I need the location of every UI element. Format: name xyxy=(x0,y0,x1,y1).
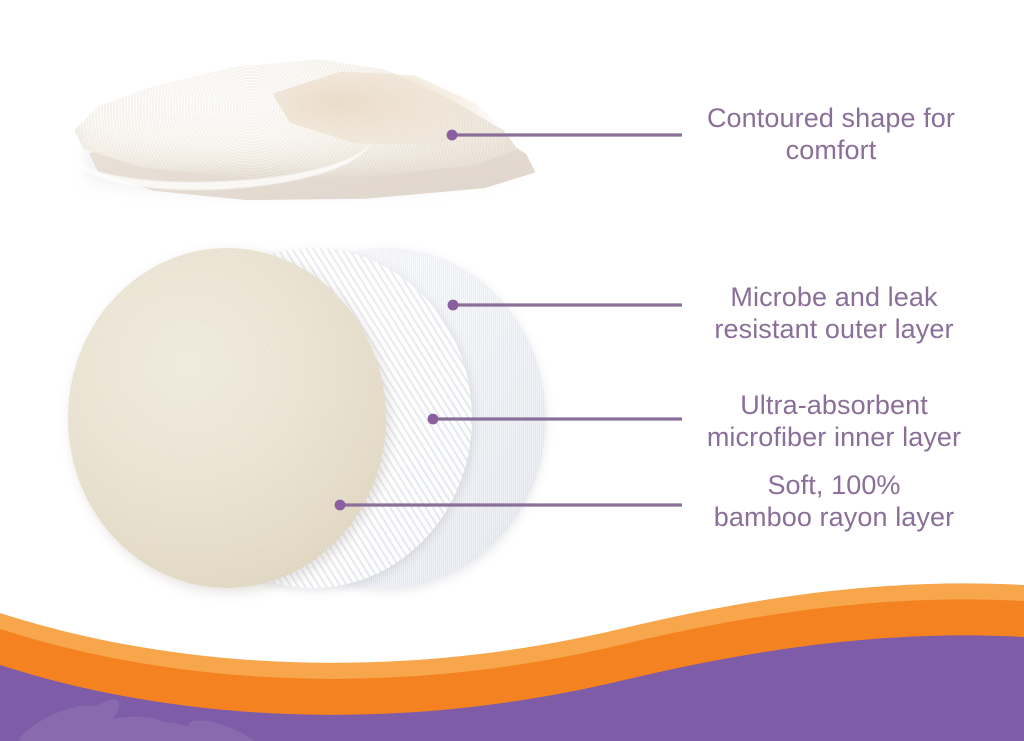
infographic-canvas: Contoured shape for comfort Microbe and … xyxy=(0,0,1024,741)
layered-disc-stack xyxy=(68,248,548,593)
callout-label-microfiber-layer: Ultra-absorbent microfiber inner layer xyxy=(688,390,980,454)
callout-label-bamboo-layer: Soft, 100% bamboo rayon layer xyxy=(688,470,980,534)
contoured-pad-image xyxy=(62,42,542,202)
callout-label-contoured-shape: Contoured shape for comfort xyxy=(688,103,974,167)
footer-wave-svg xyxy=(0,561,1024,741)
footer-wave-band xyxy=(0,561,1024,741)
product-image-stage xyxy=(0,0,620,600)
disc-bamboo-layer xyxy=(68,248,386,588)
callout-label-outer-layer: Microbe and leak resistant outer layer xyxy=(688,282,980,346)
